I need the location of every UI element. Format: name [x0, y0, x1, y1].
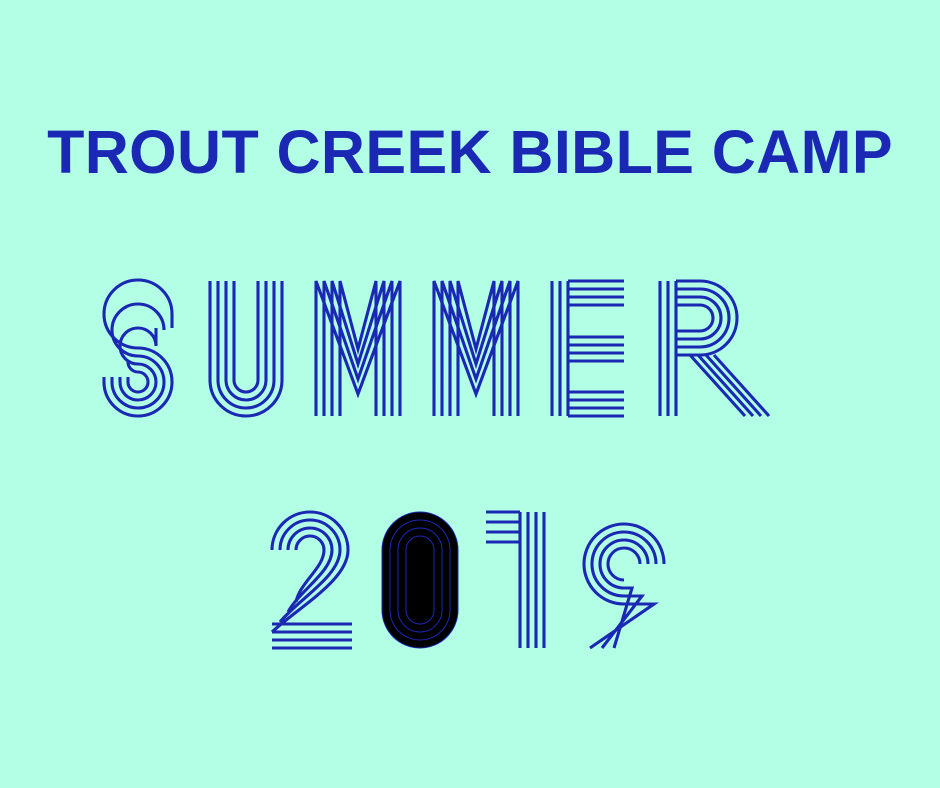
- letter-e: [552, 281, 624, 416]
- poster-canvas: TROUT CREEK BIBLE CAMP: [0, 0, 940, 788]
- page-title: TROUT CREEK BIBLE CAMP: [0, 122, 940, 183]
- headline-year: [270, 510, 676, 660]
- digit-0: [382, 512, 458, 648]
- letter-r: [660, 281, 769, 416]
- digit-9: [584, 524, 664, 648]
- digit-1: [486, 512, 544, 648]
- letter-m-1: [316, 281, 400, 416]
- letter-s: [104, 280, 172, 416]
- letter-u: [210, 281, 282, 416]
- digit-2: [272, 512, 352, 648]
- letter-m-2: [434, 281, 518, 416]
- headline-summer: [100, 281, 850, 431]
